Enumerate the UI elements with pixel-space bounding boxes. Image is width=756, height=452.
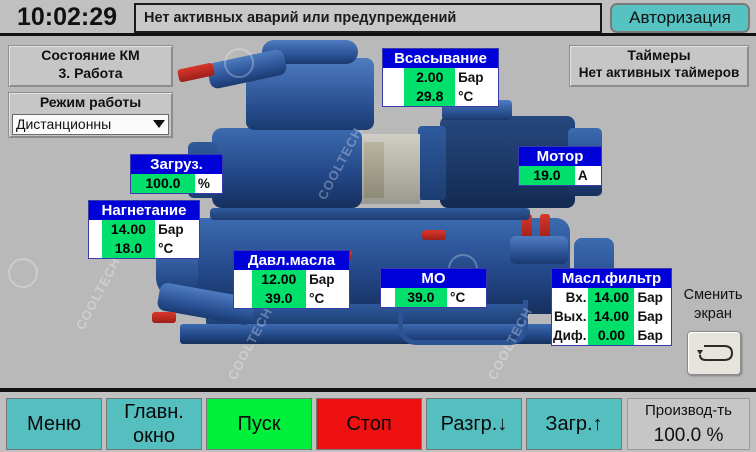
oil-filter-outlet-unit: Бар: [634, 307, 671, 326]
motor-flange: [418, 126, 446, 200]
panel-load-title: Загруз.: [131, 155, 222, 174]
panel-suction-row-pressure: 2.00 Бар: [383, 68, 498, 87]
row-pad: [383, 87, 404, 106]
oil-filter-outlet-value: 14.00: [588, 307, 634, 326]
capacity-value: 100.0 %: [628, 423, 749, 448]
chevron-down-icon[interactable]: [153, 120, 165, 128]
load-button[interactable]: Загр.↑: [526, 398, 622, 450]
oil-filter-diff-value: 0.00: [588, 326, 634, 345]
oil-filter-housing: [510, 236, 568, 264]
suction-temperature-unit: °C: [455, 87, 498, 106]
motor-current-value: 19.0: [519, 166, 575, 185]
load-value: 100.0: [131, 174, 195, 193]
discharge-temperature-value: 18.0: [102, 239, 156, 258]
oil-pressure-value: 12.00: [252, 270, 307, 289]
oil-filter-inlet-label: Вх.: [552, 288, 588, 307]
row-pad: [89, 220, 102, 239]
coupling-guard-slot: [364, 142, 384, 198]
change-screen-label-line1: Сменить: [676, 286, 750, 305]
oil-filter-diff-unit: Бар: [634, 326, 671, 345]
oil-temperature-unit: °C: [306, 289, 349, 308]
panel-oil-filter-title: Масл.фильтр: [552, 269, 671, 288]
compressor-state-box: Состояние КМ 3. Работа: [8, 45, 173, 87]
panel-motor-title: Мотор: [519, 147, 601, 166]
main-window-label-line1: Главн.: [124, 400, 184, 424]
capacity-title: Производ-ть: [628, 399, 749, 423]
discharge-valve-handle: [152, 312, 176, 323]
oil-filter-outlet-label: Вых.: [552, 307, 588, 326]
motor-current-unit: A: [575, 166, 601, 185]
menu-button[interactable]: Меню: [6, 398, 102, 450]
main-window-label-line2: окно: [133, 424, 175, 448]
row-pad: [381, 288, 395, 307]
main-window-button[interactable]: Главн. окно: [106, 398, 202, 450]
panel-discharge: Нагнетание 14.00 Бар 18.0 °C: [88, 200, 200, 259]
discharge-pressure-unit: Бар: [155, 220, 199, 239]
oil-temperature-value: 39.0: [252, 289, 307, 308]
main-view: COOLTECH COOLTECH COOLTECH COOLTECH Сост…: [0, 36, 756, 388]
valve-handle-mid: [422, 230, 446, 240]
row-pad: [89, 239, 102, 258]
panel-suction: Всасывание 2.00 Бар 29.8 °C: [382, 48, 499, 107]
unload-button[interactable]: Разгр.↓: [426, 398, 522, 450]
mo-temperature-value: 39.0: [395, 288, 447, 307]
panel-oil-pressure-row-temperature: 39.0 °C: [234, 289, 349, 308]
hmi-screen: 10:02:29 Нет активных аварий или предупр…: [0, 0, 756, 452]
suction-pressure-unit: Бар: [455, 68, 498, 87]
panel-suction-row-temperature: 29.8 °C: [383, 87, 498, 106]
panel-oil-pressure-title: Давл.масла: [234, 251, 349, 270]
panel-discharge-row-pressure: 14.00 Бар: [89, 220, 199, 239]
panel-mo-row-temperature: 39.0 °C: [381, 288, 486, 307]
row-pad: [234, 270, 252, 289]
panel-load: Загруз. 100.0 %: [130, 154, 223, 194]
stop-button[interactable]: Стоп: [316, 398, 422, 450]
panel-oil-filter-row-outlet: Вых. 14.00 Бар: [552, 307, 671, 326]
header-bar: 10:02:29 Нет активных аварий или предупр…: [0, 0, 756, 36]
watermark-ring-icon: [8, 258, 38, 288]
oil-pressure-unit: Бар: [306, 270, 349, 289]
panel-discharge-row-temperature: 18.0 °C: [89, 239, 199, 258]
timers-box: Таймеры Нет активных таймеров: [569, 45, 749, 87]
compressor-state-title: Состояние КМ: [9, 46, 172, 64]
loop-arrow-icon: [688, 332, 740, 374]
start-button[interactable]: Пуск: [206, 398, 312, 450]
operation-mode-dropdown[interactable]: Дистанционны: [12, 114, 169, 135]
oil-line-upper: [210, 208, 530, 220]
timers-value: Нет активных таймеров: [570, 64, 748, 82]
clock-display: 10:02:29: [6, 2, 128, 32]
row-pad: [234, 289, 252, 308]
panel-motor: Мотор 19.0 A: [518, 146, 602, 186]
operation-mode-value: Дистанционны: [16, 116, 111, 132]
change-screen-label-line2: экран: [676, 305, 750, 324]
authorization-button[interactable]: Авторизация: [610, 3, 750, 33]
oil-filter-inlet-value: 14.00: [588, 288, 634, 307]
watermark-text: COOLTECH: [73, 255, 124, 333]
panel-oil-filter: Масл.фильтр Вх. 14.00 Бар Вых. 14.00 Бар…: [551, 268, 672, 346]
change-screen-control: Сменить экран: [676, 286, 750, 386]
compressor-screw-body: [212, 128, 362, 208]
panel-motor-row-current: 19.0 A: [519, 166, 601, 185]
alarm-status-bar: Нет активных аварий или предупреждений: [134, 3, 602, 33]
panel-suction-title: Всасывание: [383, 49, 498, 68]
load-unit: %: [195, 174, 222, 193]
suction-temperature-value: 29.8: [404, 87, 455, 106]
discharge-temperature-unit: °C: [155, 239, 199, 258]
bottom-toolbar: Меню Главн. окно Пуск Стоп Разгр.↓ Загр.…: [0, 388, 756, 452]
oil-filter-diff-label: Диф.: [552, 326, 588, 345]
panel-oil-pressure: Давл.масла 12.00 Бар 39.0 °C: [233, 250, 350, 309]
operation-mode-box: Режим работы Дистанционны: [8, 92, 173, 138]
capacity-display: Производ-ть 100.0 %: [627, 398, 750, 450]
compressor-state-value: 3. Работа: [9, 64, 172, 82]
mo-temperature-unit: °C: [447, 288, 486, 307]
panel-oil-pressure-row-pressure: 12.00 Бар: [234, 270, 349, 289]
discharge-pressure-value: 14.00: [102, 220, 156, 239]
suction-pressure-value: 2.00: [404, 68, 455, 87]
panel-mo: МО 39.0 °C: [380, 268, 487, 308]
panel-oil-filter-row-inlet: Вх. 14.00 Бар: [552, 288, 671, 307]
panel-oil-filter-row-diff: Диф. 0.00 Бар: [552, 326, 671, 345]
panel-mo-title: МО: [381, 269, 486, 288]
panel-discharge-title: Нагнетание: [89, 201, 199, 220]
oil-filter-inlet-unit: Бар: [634, 288, 671, 307]
row-pad: [383, 68, 404, 87]
change-screen-button[interactable]: [687, 331, 741, 375]
timers-title: Таймеры: [570, 46, 748, 64]
operation-mode-title: Режим работы: [9, 93, 172, 111]
panel-load-row: 100.0 %: [131, 174, 222, 193]
